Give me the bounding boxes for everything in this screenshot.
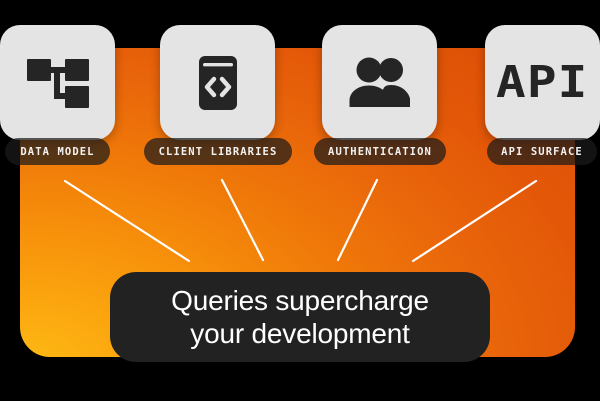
card-data-model[interactable] <box>0 25 115 140</box>
people-group-icon <box>348 57 412 109</box>
code-brackets-book-icon <box>189 54 247 112</box>
card-authentication[interactable] <box>322 25 437 140</box>
label-pill-data-model: DATA MODEL <box>5 138 110 165</box>
headline-line-1: Queries supercharge <box>171 284 429 317</box>
label-text-data-model: DATA MODEL <box>20 146 94 158</box>
label-text-api-surface: API SURFACE <box>501 146 583 158</box>
label-text-authentication: AUTHENTICATION <box>328 146 432 158</box>
headline-callout: Queries supercharge your development <box>110 272 490 362</box>
label-text-client-libraries: CLIENT LIBRARIES <box>159 146 278 158</box>
infographic-canvas: API DATA MODEL CLIENT LIBRARIES AUTHENTI… <box>0 0 600 401</box>
card-api-surface[interactable]: API <box>485 25 600 140</box>
hierarchy-icon <box>27 57 89 109</box>
headline-line-2: your development <box>190 317 409 350</box>
label-pill-authentication: AUTHENTICATION <box>314 138 446 165</box>
label-pill-api-surface: API SURFACE <box>487 138 597 165</box>
label-pill-client-libraries: CLIENT LIBRARIES <box>144 138 292 165</box>
card-client-libraries[interactable] <box>160 25 275 140</box>
